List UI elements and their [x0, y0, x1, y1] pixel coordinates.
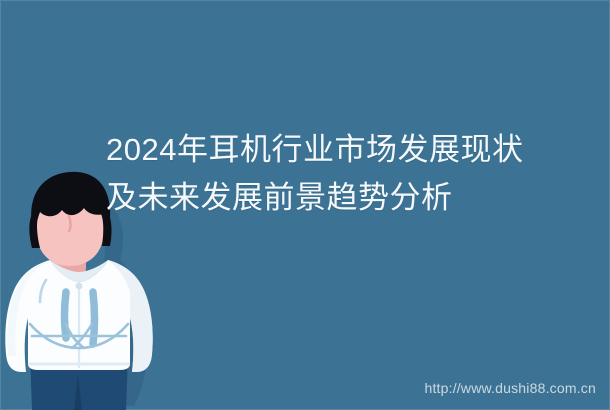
hood-knot [76, 283, 83, 290]
article-cover-banner: 2024年耳机行业市场发展现状 及未来发展前景趋势分析 http://www.d… [0, 0, 610, 410]
page-title: 2024年耳机行业市场发展现状 及未来发展前景趋势分析 [106, 126, 576, 222]
title-line-2: 及未来发展前景趋势分析 [106, 174, 576, 222]
title-line-1: 2024年耳机行业市场发展现状 [106, 126, 576, 174]
watermark-url: http://www.dushi88.com.cn [424, 380, 596, 396]
